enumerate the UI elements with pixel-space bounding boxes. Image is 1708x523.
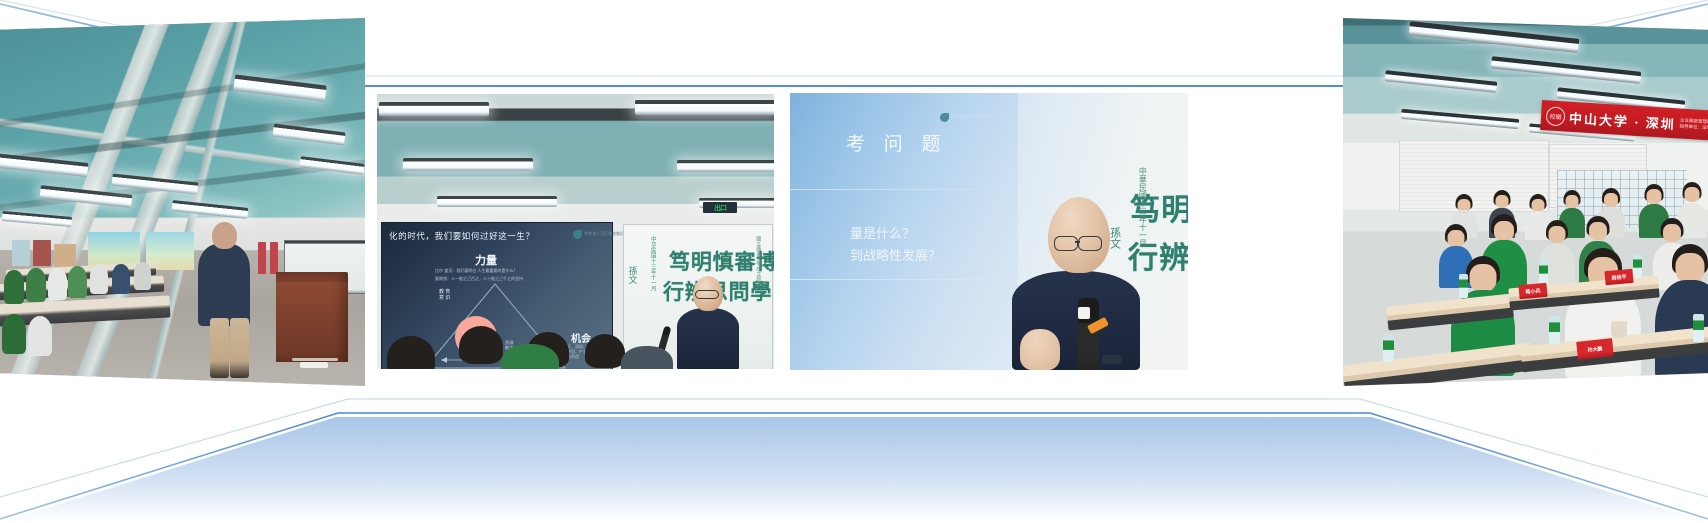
instructor-head [212,222,237,249]
stage-floor-highlight [0,408,1708,513]
ceiling-lamp [437,196,557,207]
wall-banner [270,242,278,274]
student [68,266,87,298]
lecturer-glasses [695,290,719,299]
podium [276,272,348,362]
water-bottle [1383,334,1394,362]
university-seal-icon: 校徽 [1546,106,1566,126]
carousel-photo-2[interactable]: 出口 化的时代，我们要如何过好这一生？ 粤港澳大湾区教育集团 力量 比尔·盖茨：… [377,94,774,369]
slide-brand-logo: 粤港澳大湾区教育集团 [940,113,991,122]
name-card: 蒋小兵 [1518,283,1547,299]
person-face [1676,253,1705,283]
wall-poster [12,240,30,266]
floor-adapter [300,362,328,368]
speaker-hand [1020,329,1060,370]
brand-mark-icon [940,113,949,122]
student [28,316,52,356]
slide-brand-text: 粤港澳大湾区教育集团 [584,232,624,237]
instructor-legs [230,318,249,378]
person-face [1496,195,1509,208]
person-face [1549,226,1566,243]
floor-cable [292,358,338,361]
calligraphy-caption: 國立廣東大學成立訓詞 [755,236,760,286]
wall-poster [54,244,76,268]
glasses-bridge [1075,241,1080,243]
student [134,262,151,290]
person-face [1647,189,1662,204]
slide-divider [790,279,1008,280]
calligraphy-column-1: 中华民国十三年十一月 [649,236,655,291]
exit-sign: 出口 [703,202,737,213]
photo-carousel-stage: 出口 化的时代，我们要如何过好这一生？ 粤港澳大湾区教育集团 力量 比尔·盖茨：… [0,0,1708,523]
slide-divider [790,189,1014,190]
calligraphy-line-2: 行辨思問學 [1128,233,1188,277]
person-face [1494,221,1514,241]
water-bottle [1459,274,1468,298]
water-bottle [1539,260,1548,284]
student [48,268,67,300]
stage-floor-outline [0,413,1708,519]
brand-mark-icon [573,230,582,239]
paper-cup [1611,318,1627,338]
ceiling-lamp [635,100,774,115]
audience-person-front [1655,244,1708,378]
lecturer-torso [677,308,739,369]
stage-floor-shape [0,417,1708,523]
student [4,270,24,304]
water-bottle [1549,316,1560,344]
slide-node-top-detail: 比尔·盖茨：我们要明白 人生最重要的是什么？ [435,268,517,274]
calligraphy-column-1: 中華民國十三年十一月 [1138,167,1146,247]
microphone-logo-cube [1078,307,1090,319]
slide-bullet-2: 到战略性发展？ [850,245,941,264]
banner-title: 中山大学 · 深圳 [1569,107,1677,132]
person-face [1470,264,1497,292]
student [2,314,26,354]
name-card: 房桂平 [1604,269,1633,285]
person-face [1604,193,1618,207]
slide-node-center-upper: 教 育意 识 [439,290,450,302]
ceiling-lamp [403,158,533,171]
water-bottle [1633,254,1642,278]
ceiling-lamp [677,160,774,172]
audience-head [459,326,503,364]
slide-bullet-1: 量是什么？ [850,223,915,242]
ceiling-lamp [379,102,489,116]
person-face [1589,222,1607,240]
student [90,264,108,294]
student [26,268,46,302]
person-face [1448,230,1465,247]
audience-head [585,334,625,368]
slide-title: 考 问 题 [846,129,948,156]
carousel-photo-4[interactable]: 校徽 中山大学 · 深圳 企业高级管理研修班 指导单位：深圳市教育局 [1343,18,1708,386]
slide-brand-logo: 粤港澳大湾区教育集团 [573,230,624,239]
slide-headline: 化的时代，我们要如何过好这一生？ [389,230,535,242]
person-face [1685,187,1700,202]
wall-banner [258,242,266,274]
instructor-torso [198,244,250,326]
stage-floor-outline-2 [0,399,1708,497]
slide-node-top: 力量 [475,252,497,268]
person-face [1663,224,1681,242]
student [112,264,130,294]
person-face [1566,195,1579,208]
audience-shoulder [621,346,673,369]
wall-poster [33,240,51,266]
name-card: 孙大鹏 [1576,338,1614,360]
instructor-legs [210,318,229,378]
speaker-glasses-left [1054,236,1078,251]
wristwatch [1102,355,1122,364]
calligraphy-signature: 孫文 [627,266,636,284]
slide-brand-text: 粤港澳大湾区教育集团 [951,115,991,120]
carousel-photo-3[interactable]: 考 问 题 量是什么？ 到战略性发展？ 粤港澳大湾区教育集团 笃明慎審博 行辨思… [790,93,1188,370]
speaker-glasses-right [1078,236,1102,251]
speaker-head [1048,197,1110,273]
water-bottle [1693,314,1704,342]
banner-subtitle-2: 指导单位：深圳市教育局 [1679,123,1708,132]
carousel-photo-1[interactable] [0,18,365,386]
audience-shoulder [501,344,559,369]
